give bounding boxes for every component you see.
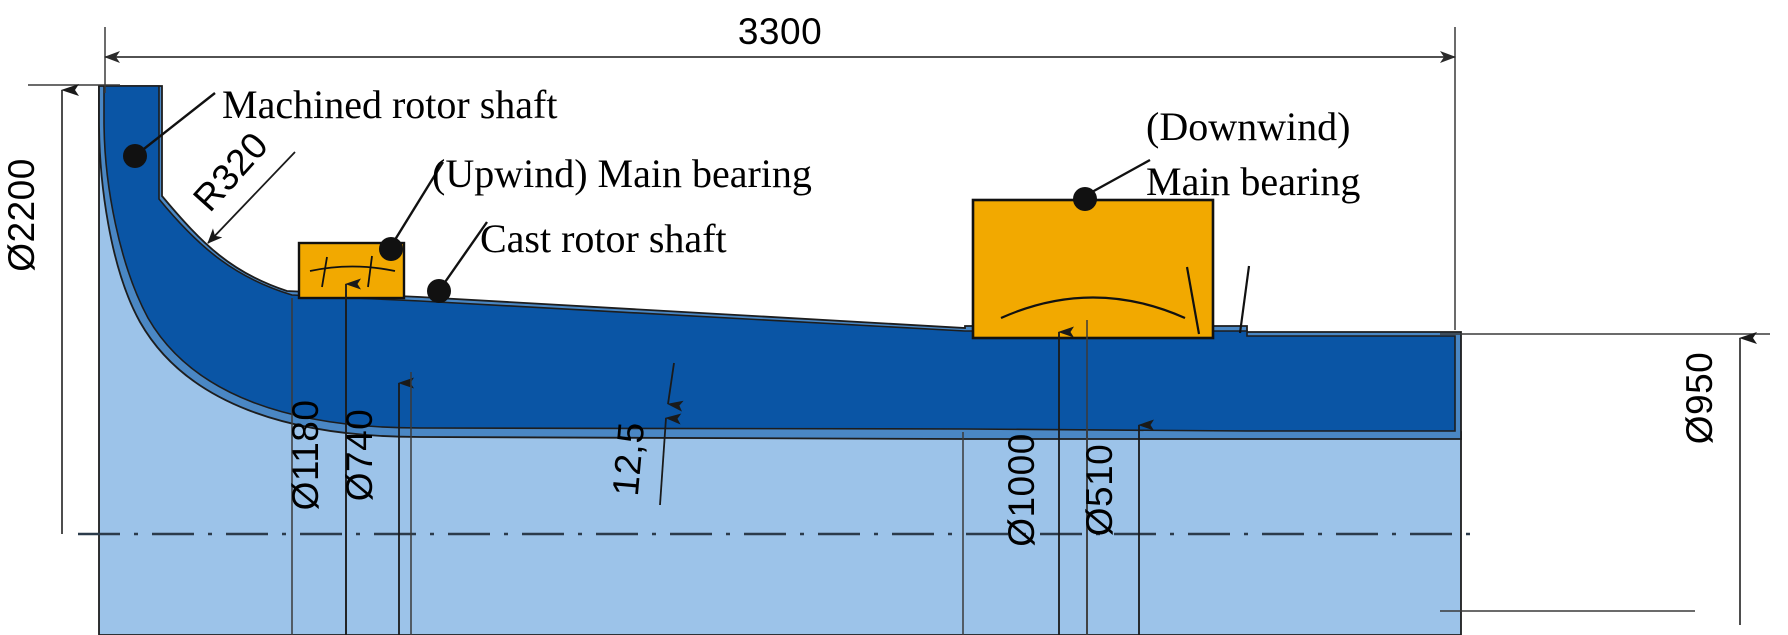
dim-label-3300: 3300 (738, 11, 822, 52)
dim-label-2200: Ø2200 (1, 158, 42, 272)
downwind-main-bearing-block (973, 200, 1213, 338)
label-downwind-main-bearing-line1: (Downwind) (1146, 104, 1350, 149)
rotor-shaft-cross-section: Machined rotor shaft (Upwind) Main beari… (0, 0, 1788, 635)
dim-label-950: Ø950 (1679, 352, 1720, 445)
downwind-bearing-roller-right (1240, 266, 1249, 333)
label-cast-rotor-shaft: Cast rotor shaft (480, 216, 727, 261)
leader-downwind-main-bearing (1092, 160, 1150, 192)
dim-label-r320: R320 (185, 124, 276, 219)
drawing-canvas: Machined rotor shaft (Upwind) Main beari… (0, 0, 1788, 635)
label-machined-rotor-shaft: Machined rotor shaft (222, 82, 557, 127)
dot-cast-rotor-shaft (427, 279, 451, 303)
dim-label-12-5: 12,5 (605, 420, 652, 497)
dot-upwind-main-bearing (379, 237, 403, 261)
dim-label-1180: Ø1180 (285, 400, 326, 511)
label-downwind-main-bearing-line2: Main bearing (1146, 159, 1360, 204)
label-upwind-main-bearing: (Upwind) Main bearing (432, 151, 812, 196)
dim-label-740: Ø740 (339, 409, 380, 502)
dot-machined-rotor-shaft (123, 144, 147, 168)
dim-label-510: Ø510 (1079, 444, 1120, 537)
dot-downwind-main-bearing (1073, 187, 1097, 211)
dim-label-1000: Ø1000 (1001, 433, 1042, 547)
